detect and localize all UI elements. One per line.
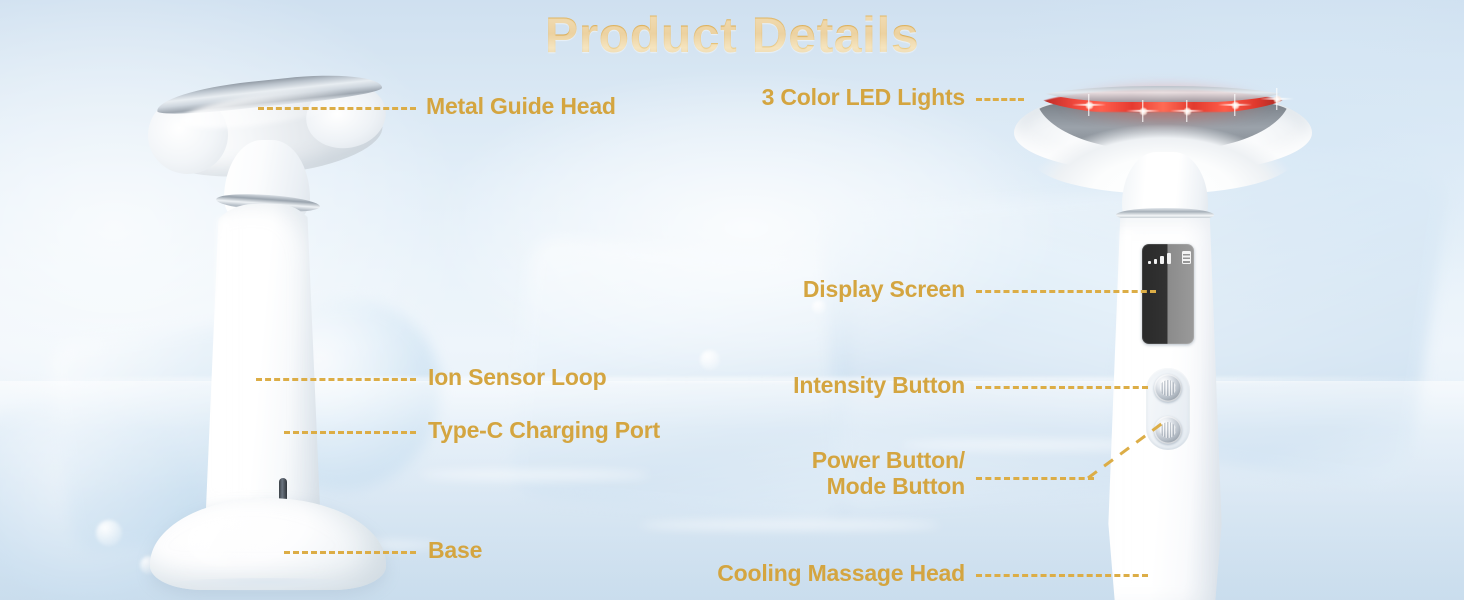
- water-ripple: [420, 470, 650, 480]
- water-ripple: [640, 520, 940, 530]
- display-screen-level-indicator: [1148, 252, 1171, 264]
- bubble-decoration: [812, 300, 826, 314]
- leader-line-display-screen: [976, 290, 1156, 293]
- label-power-mode-button: Power Button/ Mode Button: [620, 447, 965, 499]
- leader-line-3-color-led-lights: [976, 98, 1024, 101]
- bubble-decoration: [700, 350, 720, 370]
- leader-line-power-mode-button: [976, 477, 1094, 480]
- handle-highlight: [218, 218, 244, 498]
- right-product-image: [1010, 80, 1320, 592]
- label-metal-guide-head: Metal Guide Head: [426, 93, 616, 119]
- label-base: Base: [428, 537, 482, 563]
- leader-line-intensity-button: [976, 386, 1148, 389]
- label-3-color-led-lights: 3 Color LED Lights: [640, 84, 965, 110]
- leader-line-metal-guide-head: [258, 107, 416, 110]
- bubble-decoration: [96, 520, 122, 546]
- leader-line-cooling-massage-head: [976, 574, 1148, 577]
- charging-base-highlight: [186, 514, 282, 568]
- label-ion-sensor-loop: Ion Sensor Loop: [428, 364, 606, 390]
- leader-line-power-mode-button-diagonal: [1086, 418, 1176, 488]
- left-product-image: [120, 78, 410, 590]
- leader-line-base: [284, 551, 416, 554]
- leader-line-ion-sensor-loop: [256, 378, 416, 381]
- label-type-c-charging-port: Type-C Charging Port: [428, 417, 660, 443]
- label-cooling-massage-head: Cooling Massage Head: [560, 560, 965, 586]
- handle-highlight: [1122, 230, 1144, 580]
- page-title: Product Details: [0, 6, 1464, 64]
- battery-icon: [1182, 251, 1191, 264]
- intensity-button[interactable]: [1154, 374, 1182, 402]
- leader-line-type-c-charging-port: [284, 431, 416, 434]
- charging-base-shadow: [164, 578, 372, 592]
- label-display-screen: Display Screen: [640, 276, 965, 302]
- label-intensity-button: Intensity Button: [620, 372, 965, 398]
